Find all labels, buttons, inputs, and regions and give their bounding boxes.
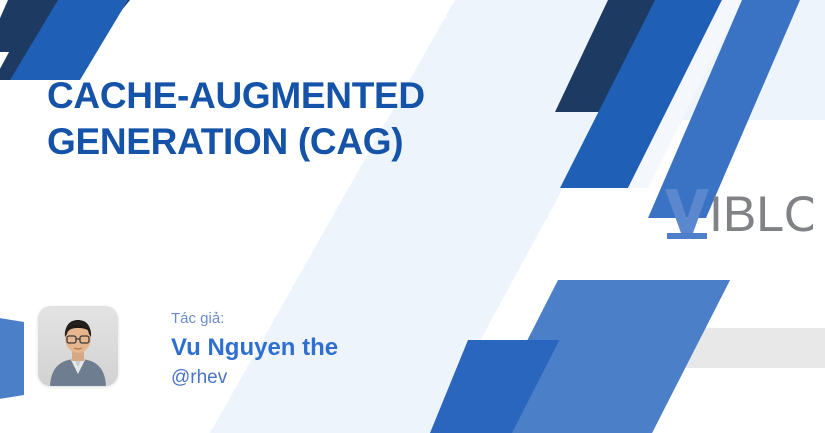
bottom-left-blue-shape — [0, 315, 24, 402]
author-block: Tác giả: Vu Nguyen the @rhev — [38, 306, 338, 390]
author-handle: @rhev — [171, 365, 338, 390]
avatar-photo-icon — [38, 306, 118, 386]
author-text: Tác giả: Vu Nguyen the @rhev — [171, 309, 338, 390]
viblo-logo: IBLO — [663, 183, 813, 241]
viblo-v-mark-icon — [665, 189, 709, 233]
page-title: CACHE-AUGMENTED GENERATION (CAG) — [47, 73, 567, 165]
viblo-wordmark: IBLO — [709, 186, 813, 241]
title-line-2: GENERATION (CAG) — [47, 119, 567, 165]
viblo-article-banner: CACHE-AUGMENTED GENERATION (CAG) IBLO — [0, 0, 825, 433]
viblo-underline — [667, 233, 707, 239]
author-role-label: Tác giả: — [171, 309, 338, 329]
title-line-1: CACHE-AUGMENTED — [47, 73, 567, 119]
avatar — [38, 306, 118, 386]
author-name: Vu Nguyen the — [171, 332, 338, 363]
